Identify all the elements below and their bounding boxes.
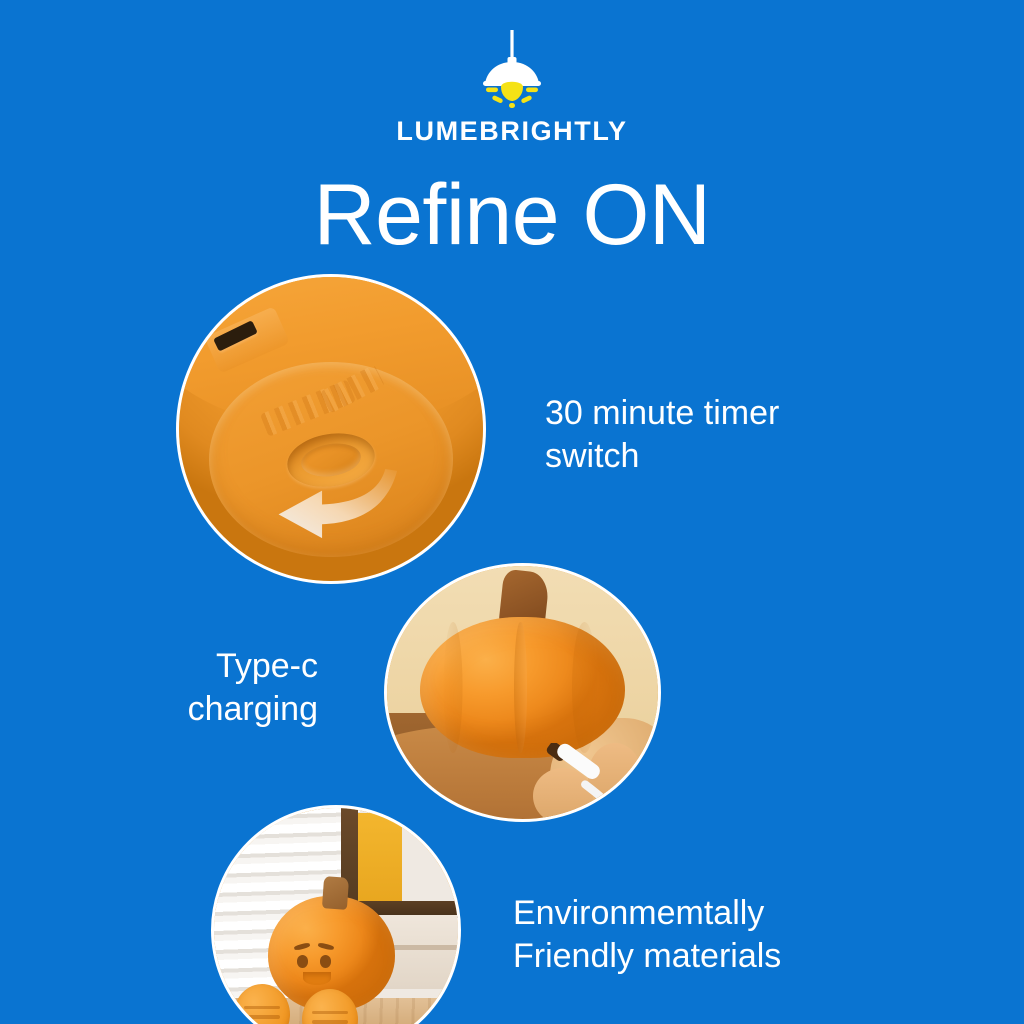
pumpkin-rib-right bbox=[572, 622, 597, 752]
feature-image-timer-inner bbox=[179, 277, 483, 581]
feature-image-charging bbox=[384, 563, 661, 822]
usb-c-cable-icon bbox=[539, 743, 653, 819]
feature-caption-charging: Type-c charging bbox=[40, 645, 318, 730]
product-feature-card: LUMEBRIGHTLY Refine ON bbox=[0, 0, 1024, 1024]
pumpkin-eye-right bbox=[320, 955, 331, 968]
pumpkin-rib-center bbox=[514, 622, 526, 752]
pumpkin-eyebrow-left bbox=[294, 942, 311, 950]
pumpkin-hand-right-line-2 bbox=[312, 1020, 348, 1024]
brand-lockup: LUMEBRIGHTLY bbox=[0, 30, 1024, 145]
feature-caption-eco: Environmemtally Friendly materials bbox=[513, 892, 781, 977]
pumpkin-mouth bbox=[303, 972, 331, 986]
pumpkin-hand-right-line-1 bbox=[312, 1011, 348, 1015]
pumpkin-lamp-body bbox=[420, 617, 626, 759]
pumpkin-hand-left-line-1 bbox=[244, 1006, 280, 1010]
feature-caption-timer: 30 minute timer switch bbox=[545, 392, 779, 477]
brand-name: LUMEBRIGHTLY bbox=[396, 118, 627, 145]
pumpkin-hand-left-line-2 bbox=[244, 1015, 280, 1019]
pumpkin-eye-left bbox=[297, 955, 308, 968]
eco-scene-window-panel bbox=[353, 813, 402, 906]
pumpkin-eyebrow-right bbox=[318, 942, 335, 950]
pumpkin-rib-left bbox=[444, 622, 463, 752]
feature-image-charging-inner bbox=[387, 566, 658, 819]
rotation-arrow-icon bbox=[264, 465, 404, 544]
pumpkin-face-stem bbox=[322, 877, 350, 911]
feature-image-eco bbox=[211, 805, 461, 1024]
page-title: Refine ON bbox=[0, 170, 1024, 260]
pendant-lamp-icon bbox=[474, 30, 550, 110]
feature-image-timer bbox=[176, 274, 486, 584]
feature-image-eco-inner bbox=[214, 808, 458, 1024]
